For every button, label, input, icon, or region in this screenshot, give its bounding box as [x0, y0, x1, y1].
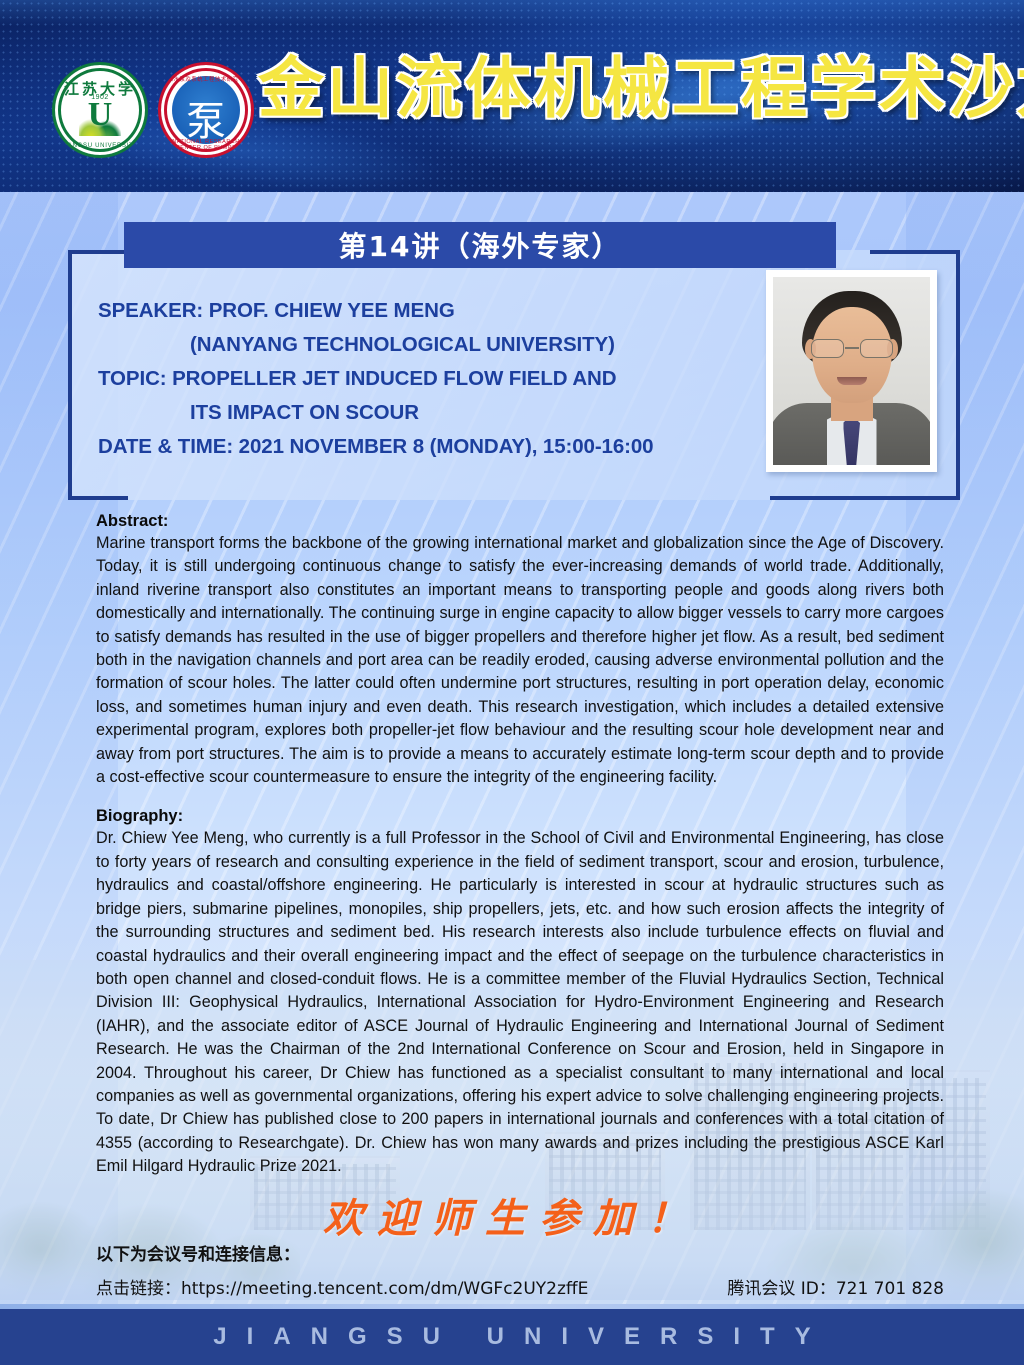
speaker-line-topic: TOPIC: PROPELLER JET INDUCED FLOW FIELD … [98, 362, 758, 396]
meeting-id: 腾讯会议 ID：721 701 828 [727, 1274, 948, 1299]
header-top-glow [0, 0, 1024, 26]
speaker-box-border-left [68, 250, 72, 500]
footer-university-name: JIANGSU UNIVERSITY [193, 1323, 830, 1351]
speaker-line-affiliation: (NANYANG TECHNOLOGICAL UNIVERSITY) [98, 328, 758, 362]
biography-heading: Biography: [96, 807, 944, 826]
poster-main-title: 金山流体机械工程学术沙龙 [258, 56, 1024, 122]
lecture-number-text: 第14讲（海外专家） [339, 225, 622, 265]
biography-body: Dr. Chiew Yee Meng, who currently is a f… [96, 827, 944, 1178]
speaker-portrait-photo [773, 277, 930, 465]
speaker-line-name: SPEAKER: PROF. CHIEW YEE MENG [98, 294, 758, 328]
rc-logo-glyph: 泵 [172, 102, 240, 142]
ju-logo-letter: U [88, 98, 113, 132]
national-research-center-logo-icon: 泵 国家水泵及系统工程技术研究中心 NATIONAL RESEARCH CENT… [158, 62, 254, 158]
rc-logo-disc: 泵 [172, 76, 240, 144]
abstract-heading: Abstract: [96, 512, 944, 531]
poster-body-text: Abstract: Marine transport forms the bac… [96, 512, 944, 1179]
speaker-line-topic-cont: ITS IMPACT ON SCOUR [98, 396, 758, 430]
section-spacer [96, 789, 944, 807]
rc-logo-english: NATIONAL RESEARCH CENTER OF PUMPS [161, 139, 251, 151]
lecture-number-banner: 第14讲（海外专家） [124, 222, 836, 268]
abstract-body: Marine transport forms the backbone of t… [96, 532, 944, 789]
jiangsu-university-logo-icon: 江苏大学 1902 U JIANGSU UNIVERSITY [52, 62, 148, 158]
speaker-info-box: SPEAKER: PROF. CHIEW YEE MENG (NANYANG T… [68, 250, 960, 500]
welcome-calligraphy-text: 欢迎师生参加！ [0, 1186, 1024, 1244]
speaker-details: SPEAKER: PROF. CHIEW YEE MENG (NANYANG T… [98, 294, 758, 464]
ju-logo-english: JIANGSU UNIVERSITY [55, 143, 145, 149]
speaker-box-border-bottom-right [770, 496, 960, 500]
rc-logo-chinese: 国家水泵及系统工程技术研究中心 [161, 75, 251, 83]
poster-header-band: 江苏大学 1902 U JIANGSU UNIVERSITY 泵 国家水泵及系统… [0, 0, 1024, 192]
meeting-info-row: 点击链接：https://meeting.tencent.com/dm/WGFc… [96, 1274, 948, 1299]
portrait-glasses-icon [809, 339, 895, 359]
speaker-box-border-right [956, 250, 960, 500]
speaker-box-border-top-left [68, 250, 126, 254]
logo-row: 江苏大学 1902 U JIANGSU UNIVERSITY 泵 国家水泵及系统… [52, 62, 254, 158]
speaker-box-border-top-right [870, 250, 960, 254]
portrait-mouth [837, 377, 867, 385]
meeting-link[interactable]: 点击链接：https://meeting.tencent.com/dm/WGFc… [96, 1274, 588, 1299]
speaker-line-datetime: DATE & TIME: 2021 NOVEMBER 8 (MONDAY), 1… [98, 430, 758, 464]
speaker-portrait-frame [766, 270, 937, 472]
speaker-box-border-bottom-left [68, 496, 128, 500]
meeting-info-heading: 以下为会议号和连接信息： [96, 1240, 948, 1265]
poster-root: 江苏大学 1902 U JIANGSU UNIVERSITY 泵 国家水泵及系统… [0, 0, 1024, 1365]
meeting-info-block: 以下为会议号和连接信息： 点击链接：https://meeting.tencen… [96, 1240, 948, 1299]
poster-footer-band: JIANGSU UNIVERSITY [0, 1309, 1024, 1365]
